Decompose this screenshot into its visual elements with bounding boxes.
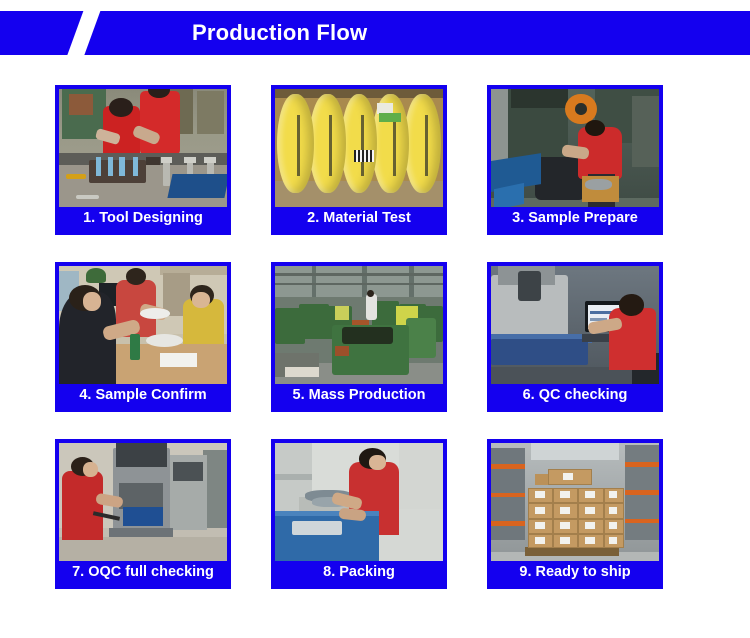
step-card-5[interactable]: 5. Mass Production: [271, 262, 447, 412]
step-card-7[interactable]: 7. OQC full checking: [55, 439, 231, 589]
header-banner: Production Flow: [0, 11, 750, 55]
step-caption-3: 3. Sample Prepare: [489, 205, 661, 231]
step-card-1[interactable]: 1. Tool Designing: [55, 85, 231, 235]
step-caption-7: 7. OQC full checking: [57, 559, 229, 585]
photo-oqc-full-checking: [59, 443, 227, 561]
step-card-6[interactable]: 6. QC checking: [487, 262, 663, 412]
step-card-9[interactable]: 9. Ready to ship: [487, 439, 663, 589]
step-card-3[interactable]: 3. Sample Prepare: [487, 85, 663, 235]
step-card-8[interactable]: 8. Packing: [271, 439, 447, 589]
step-card-2[interactable]: 2. Material Test: [271, 85, 447, 235]
step-caption-9: 9. Ready to ship: [489, 559, 661, 585]
slash-decoration-icon: [64, 11, 102, 55]
step-caption-5: 5. Mass Production: [273, 382, 445, 408]
photo-ready-to-ship: [491, 443, 659, 561]
step-card-4[interactable]: 4. Sample Confirm: [55, 262, 231, 412]
page-title: Production Flow: [192, 11, 367, 55]
photo-material-test: [275, 89, 443, 207]
photo-sample-prepare: [491, 89, 659, 207]
photo-tool-designing: [59, 89, 227, 207]
step-caption-4: 4. Sample Confirm: [57, 382, 229, 408]
step-caption-8: 8. Packing: [273, 559, 445, 585]
photo-packing: [275, 443, 443, 561]
step-caption-2: 2. Material Test: [273, 205, 445, 231]
step-caption-6: 6. QC checking: [489, 382, 661, 408]
production-flow-grid: 1. Tool Designing 2. Material Test: [55, 85, 695, 605]
photo-mass-production: [275, 266, 443, 384]
photo-sample-confirm: [59, 266, 227, 384]
photo-qc-checking: [491, 266, 659, 384]
production-flow-page: Production Flow: [0, 0, 750, 638]
step-caption-1: 1. Tool Designing: [57, 205, 229, 231]
